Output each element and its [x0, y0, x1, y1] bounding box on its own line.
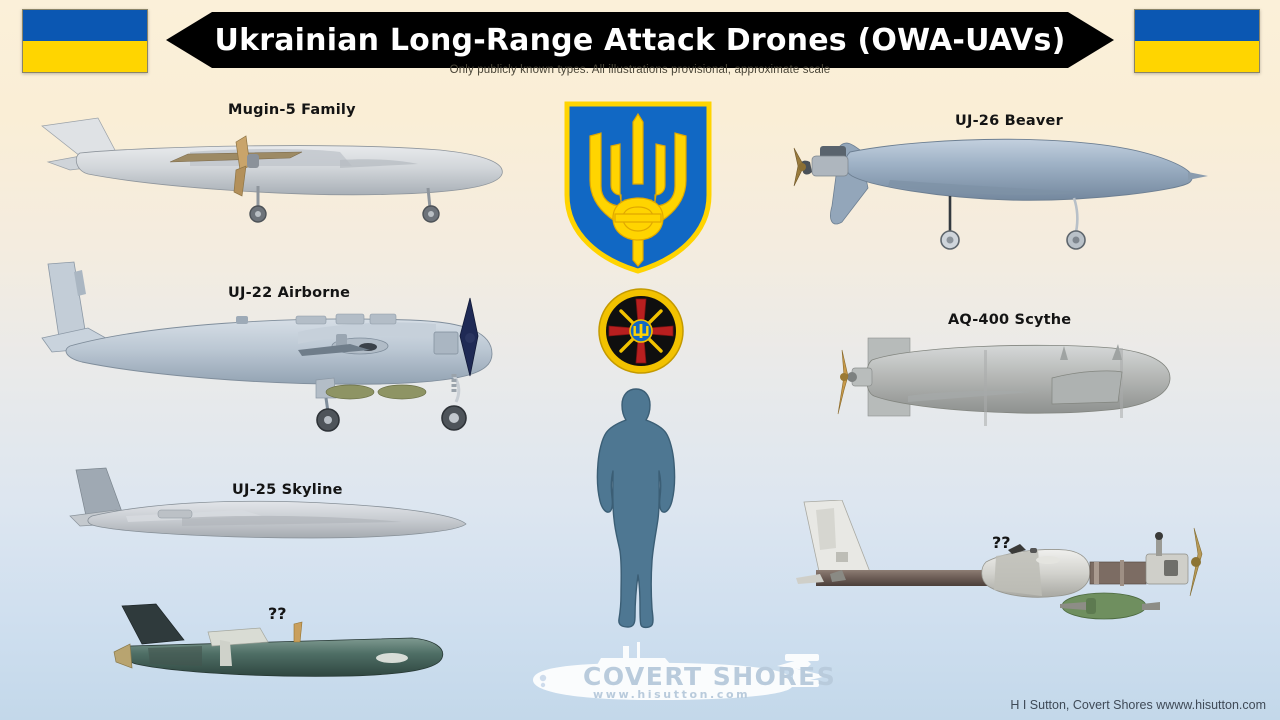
- drone-illustration-unknown-type-right: [790, 500, 1230, 640]
- page-title: Ukrainian Long-Range Attack Drones (OWA-…: [215, 23, 1066, 58]
- flag-blue-band: [23, 10, 147, 41]
- drone-label-aq-400-scythe: AQ-400 Scythe: [948, 312, 1071, 328]
- armed-forces-badge: [597, 287, 685, 375]
- logo-brand-text: COVERT SHORES: [583, 662, 835, 691]
- human-silhouette-scale: [588, 385, 684, 629]
- flag-blue-band: [1135, 10, 1259, 41]
- credit-line: H I Sutton, Covert Shores wwww.hisutton.…: [1010, 698, 1266, 712]
- logo-site-text: www.hisutton.com: [593, 688, 750, 701]
- infographic-canvas: Ukrainian Long-Range Attack Drones (OWA-…: [0, 0, 1280, 720]
- drone-illustration-uj-25-skyline: [62, 462, 482, 572]
- drone-illustration-aq-400-scythe: [812, 330, 1212, 435]
- drone-illustration-uj-22-airborne: [30, 258, 540, 448]
- drone-illustration-unknown-type-left: [112, 596, 452, 688]
- drone-illustration-uj-26-beaver: [790, 110, 1210, 270]
- subtitle-text: Only publicly known types. All illustrat…: [0, 64, 1280, 76]
- title-banner: Ukrainian Long-Range Attack Drones (OWA-…: [166, 12, 1114, 68]
- drone-illustration-mugin-5-family: [40, 108, 520, 238]
- covert-shores-logo: COVERT SHORES www.hisutton.com: [505, 640, 835, 716]
- ukraine-coat-of-arms: [563, 100, 713, 275]
